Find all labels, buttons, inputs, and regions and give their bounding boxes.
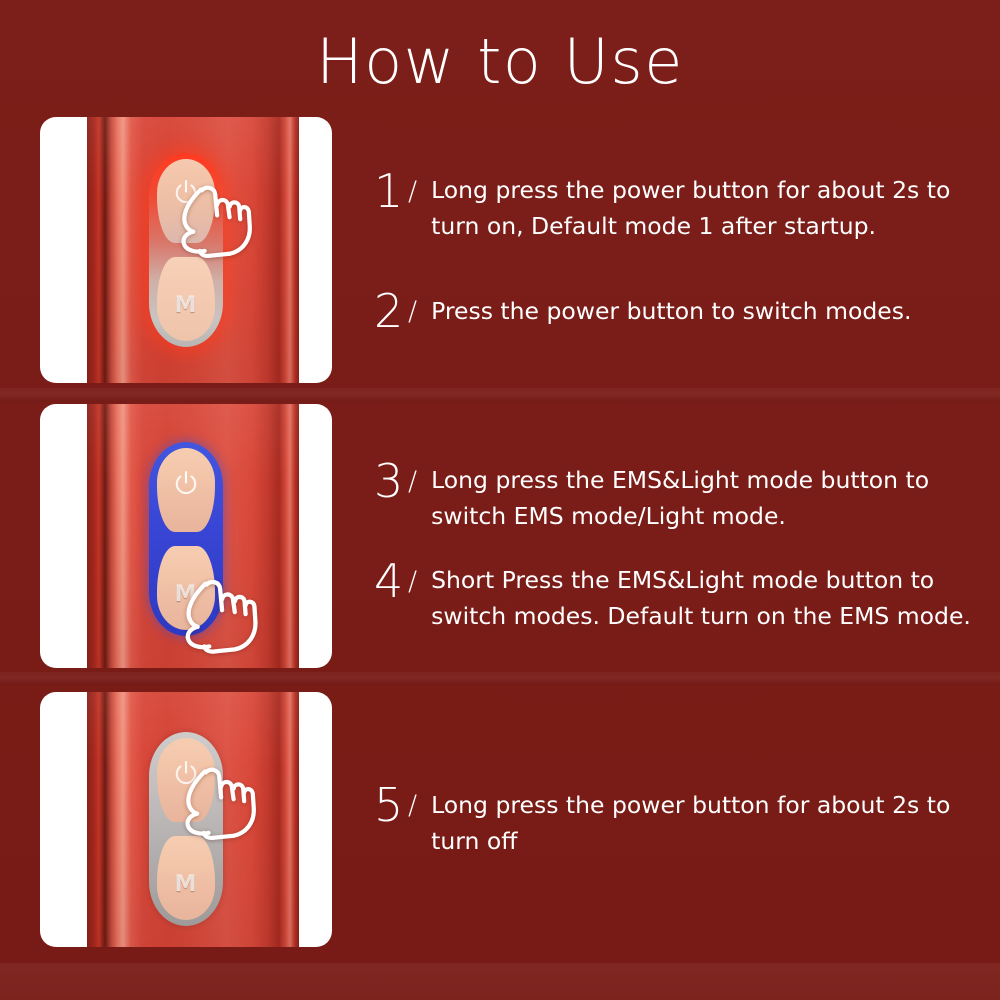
mode-button[interactable] <box>157 836 215 920</box>
step-number: 5 <box>374 782 404 828</box>
section-divider-1 <box>0 388 1000 402</box>
mode-button[interactable] <box>157 546 215 630</box>
instruction-step-1: 1 / Long press the power button for abou… <box>374 168 974 244</box>
step-text: Long press the power button for about 2s… <box>431 788 974 859</box>
step-text: Short Press the EMS&Light mode button to… <box>431 563 974 634</box>
step-separator: / <box>408 568 417 595</box>
step-text: Long press the power button for about 2s… <box>431 173 974 244</box>
page-title: How to Use <box>0 28 1000 96</box>
bottom-band <box>0 963 1000 1000</box>
instruction-step-5: 5 / Long press the power button for abou… <box>374 782 974 859</box>
step-number: 1 <box>374 168 404 214</box>
button-capsule-2: M <box>149 442 223 636</box>
step-text: Long press the EMS&Light mode button to … <box>431 463 974 534</box>
step-separator: / <box>408 468 417 495</box>
instruction-step-2: 2 / Press the power button to switch mod… <box>374 288 911 334</box>
power-button[interactable] <box>157 159 215 243</box>
mode-button[interactable] <box>157 257 215 341</box>
power-button[interactable] <box>157 448 215 532</box>
step-number: 4 <box>374 558 404 604</box>
section-divider-2 <box>0 672 1000 685</box>
step-separator: / <box>408 792 417 819</box>
step-separator: / <box>408 178 417 205</box>
product-image-panel-3: M <box>40 692 332 947</box>
step-number: 2 <box>374 288 404 334</box>
step-number: 3 <box>374 458 404 504</box>
button-capsule-3: M <box>149 732 223 926</box>
button-capsule-1: M <box>149 153 223 347</box>
product-image-panel-2: M <box>40 404 332 668</box>
how-to-use-infographic: How to Use M M <box>0 0 1000 1000</box>
product-image-panel-1: M <box>40 117 332 383</box>
instruction-step-4: 4 / Short Press the EMS&Light mode butto… <box>374 558 974 634</box>
step-separator: / <box>408 298 417 325</box>
instruction-step-3: 3 / Long press the EMS&Light mode button… <box>374 458 974 534</box>
power-button[interactable] <box>157 738 215 822</box>
step-text: Press the power button to switch modes. <box>431 294 911 330</box>
